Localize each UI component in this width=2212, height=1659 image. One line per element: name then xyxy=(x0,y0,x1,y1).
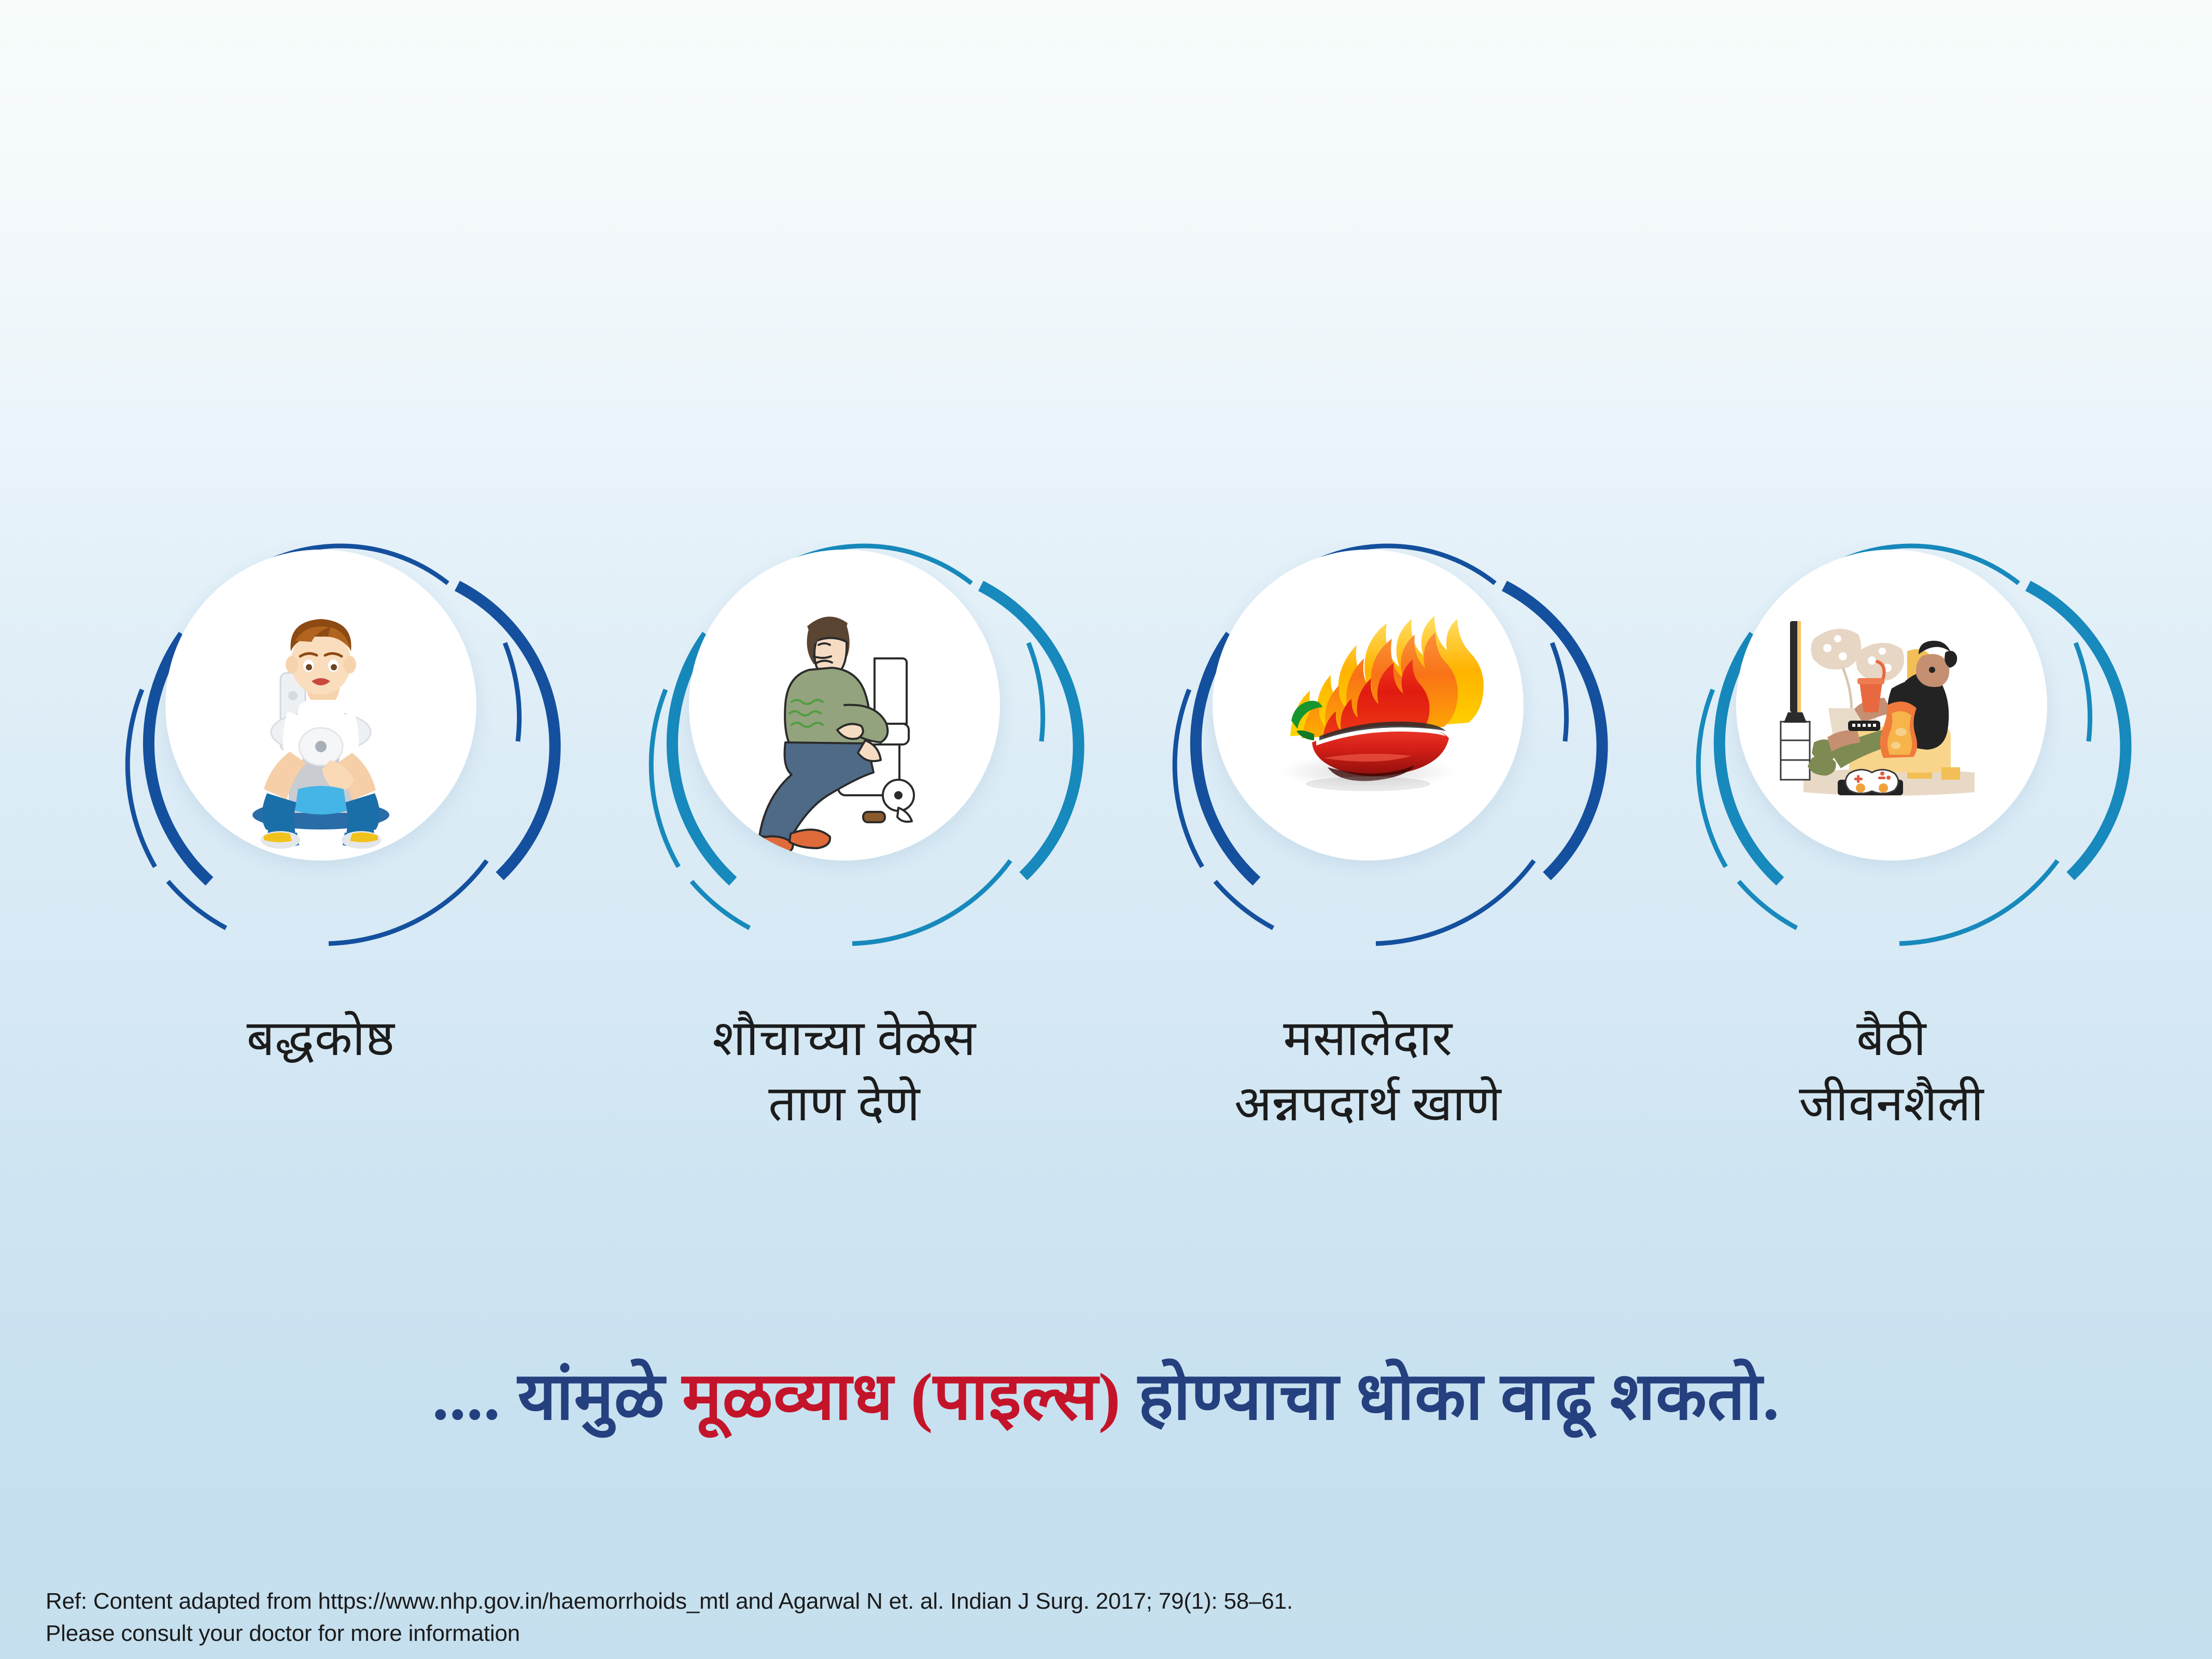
headline-highlight-piles: मूळव्याध (पाइल्स) xyxy=(682,1360,1121,1433)
reference-line-source: Ref: Content adapted from https://www.nh… xyxy=(46,1585,1293,1618)
caption-straining: शौचाच्या वेळेस ताण देणे xyxy=(616,1006,1073,1137)
circle-badge xyxy=(1676,518,2107,949)
circle-badge xyxy=(1153,518,1583,949)
man-constipated-on-toilet-icon xyxy=(165,550,476,861)
circle-badge xyxy=(629,518,1060,949)
risk-factor-row xyxy=(0,518,2212,949)
headline-trail: होण्याचा धोका वाढू शकतो. xyxy=(1121,1360,1780,1433)
caption-sedentary: बैठी जीवनशैली xyxy=(1664,1006,2120,1137)
reference-line-disclaimer: Please consult your doctor for more info… xyxy=(46,1618,1293,1650)
risk-factor-item-sedentary xyxy=(1664,518,2120,949)
headline-lead: .... यांमुळे xyxy=(432,1360,682,1433)
reference-footer: Ref: Content adapted from https://www.nh… xyxy=(46,1585,1293,1650)
risk-factor-item-straining xyxy=(616,518,1073,949)
man-lounging-on-couch-icon xyxy=(1736,550,2047,861)
caption-constipation: बद्धकोष्ठ xyxy=(93,1006,549,1137)
infographic-canvas: बद्धकोष्ठ शौचाच्या वेळेस ताण देणे मसालेद… xyxy=(0,0,2212,1659)
flaming-chili-pepper-icon xyxy=(1213,550,1524,861)
caption-row: बद्धकोष्ठ शौचाच्या वेळेस ताण देणे मसालेद… xyxy=(0,1006,2212,1137)
man-straining-on-toilet-icon xyxy=(689,550,1000,861)
circle-badge xyxy=(106,518,536,949)
headline-message: .... यांमुळे मूळव्याध (पाइल्स) होण्याचा … xyxy=(0,1348,2212,1439)
caption-spicy-food: मसालेदार अन्नपदार्थ खाणे xyxy=(1140,1006,1596,1137)
risk-factor-item-spicy-food xyxy=(1140,518,1596,949)
risk-factor-item-constipation xyxy=(93,518,549,949)
